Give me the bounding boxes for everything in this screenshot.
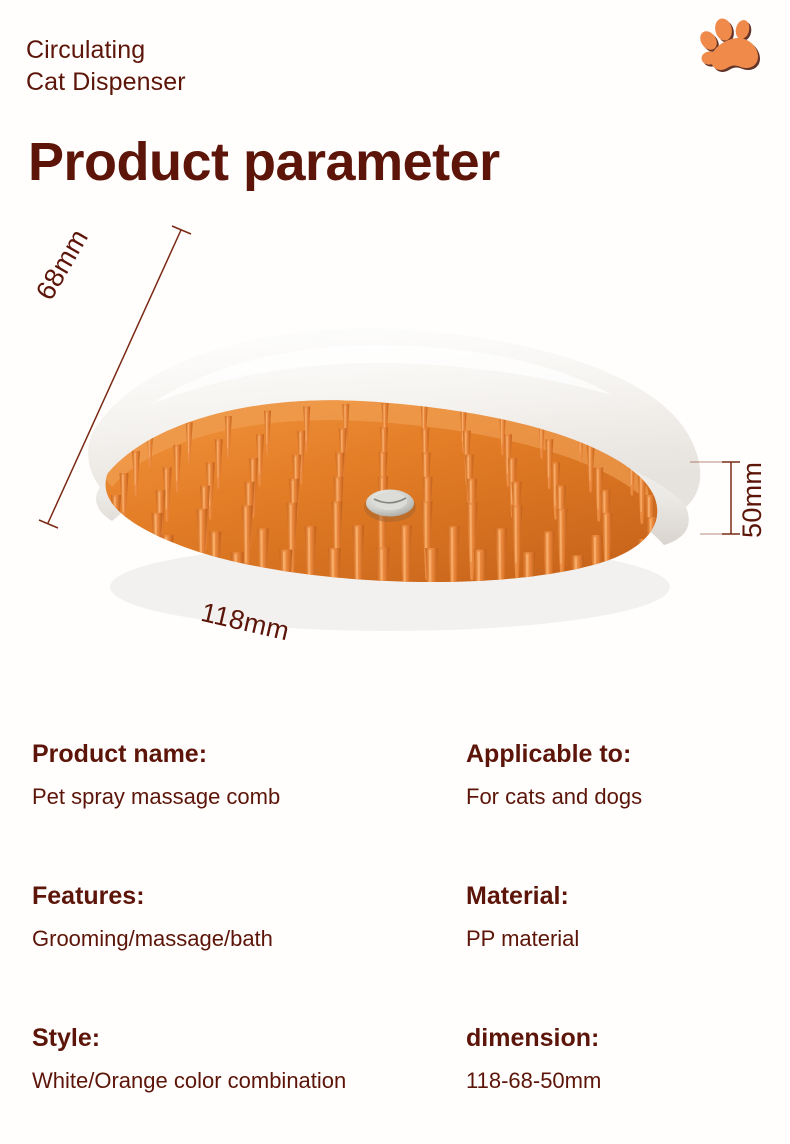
spec-value: For cats and dogs: [466, 786, 790, 808]
paw-icon: [700, 14, 766, 76]
spec-item-material: Material: PP material: [452, 884, 790, 950]
spec-item-style: Style: White/Orange color combination: [0, 1026, 452, 1092]
spec-label: dimension:: [466, 1026, 790, 1051]
spec-value: PP material: [466, 928, 790, 950]
spec-label: Material:: [466, 884, 790, 909]
spray-nozzle: [364, 490, 416, 523]
specification-grid: Product name: Pet spray massage comb App…: [0, 742, 790, 1092]
brand-name: Circulating Cat Dispenser: [26, 34, 186, 98]
spec-value: Pet spray massage comb: [32, 786, 452, 808]
spec-value: White/Orange color combination: [32, 1070, 452, 1092]
spec-label: Applicable to:: [466, 742, 790, 767]
spec-label: Style:: [32, 1026, 452, 1051]
row-spacer: [452, 808, 790, 884]
product-image: [0, 215, 790, 725]
brand-line-1: Circulating: [26, 34, 186, 66]
product-parameter-infographic: Circulating Cat Dispenser Product parame…: [0, 0, 790, 1144]
spec-label: Features:: [32, 884, 452, 909]
spec-item-features: Features: Grooming/massage/bath: [0, 884, 452, 950]
brand-line-2: Cat Dispenser: [26, 66, 186, 98]
row-spacer: [0, 950, 452, 1026]
spec-item-applicable-to: Applicable to: For cats and dogs: [452, 742, 790, 808]
page-title: Product parameter: [28, 131, 500, 193]
spec-item-product-name: Product name: Pet spray massage comb: [0, 742, 452, 808]
spec-label: Product name:: [32, 742, 452, 767]
spec-value: Grooming/massage/bath: [32, 928, 452, 950]
spec-item-dimension: dimension: 118-68-50mm: [452, 1026, 790, 1092]
row-spacer: [0, 808, 452, 884]
dimension-label-50mm: 50mm: [737, 462, 768, 538]
row-spacer: [452, 950, 790, 1026]
spec-value: 118-68-50mm: [466, 1070, 790, 1092]
